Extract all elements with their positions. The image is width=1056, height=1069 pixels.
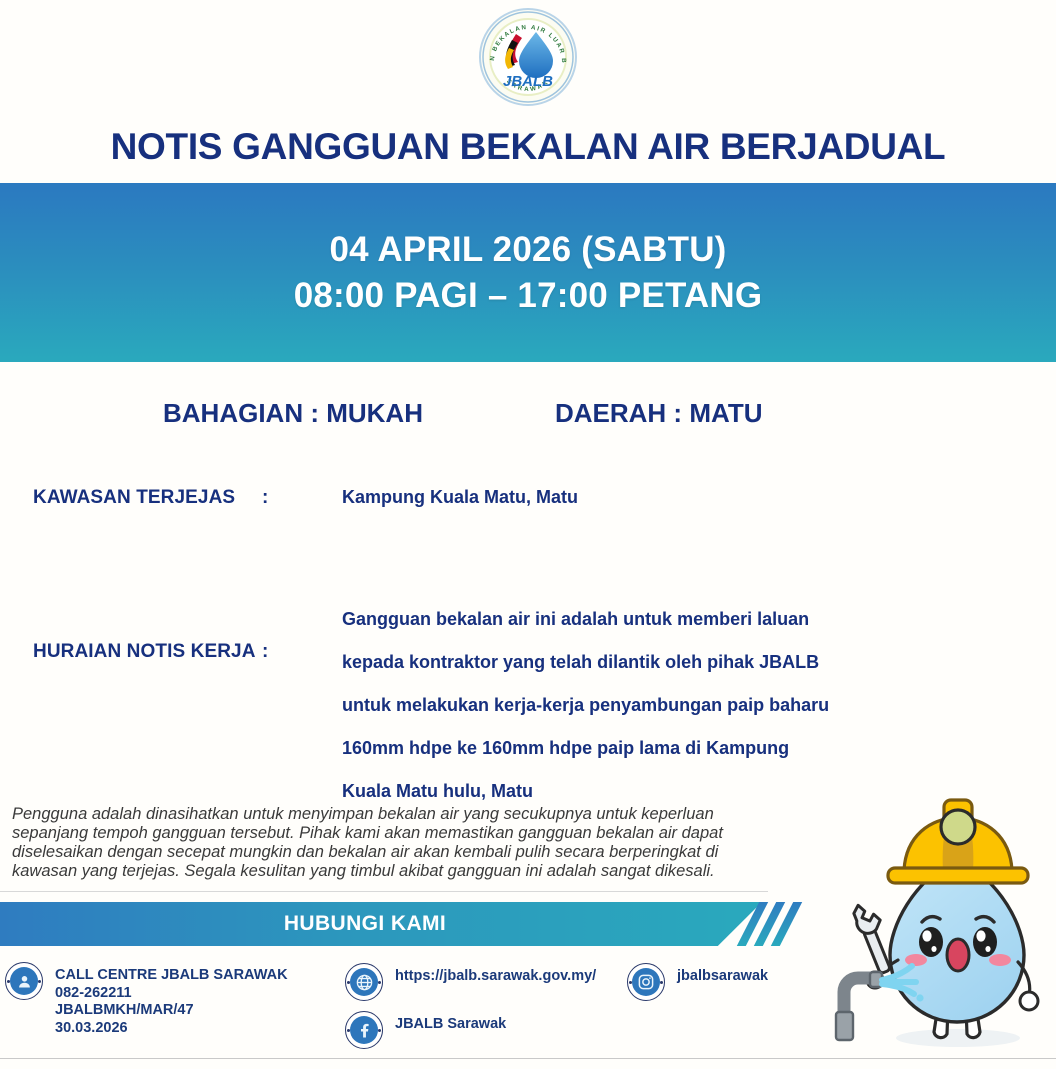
facebook-text: JBALB Sarawak [395,1011,506,1034]
notice-time: 08:00 PAGI – 17:00 PETANG [294,276,763,316]
notice-date: 04 APRIL 2026 (SABTU) [329,230,726,270]
svg-text:JBALB: JBALB [503,73,553,90]
work-description-colon: : [262,598,280,663]
banner-stripes [744,902,802,946]
contact-instagram[interactable]: jbalbsarawak [627,963,768,1001]
instagram-icon [627,963,665,1001]
affected-area-label: KAWASAN TERJEJAS [0,487,262,509]
logo-container: JABATAN BEKALAN AIR LUAR BANDAR SARAWAK … [0,8,1056,106]
daerah-label: DAERAH : MATU [555,398,763,429]
instagram-handle: jbalbsarawak [677,968,768,986]
instagram-text: jbalbsarawak [677,963,768,986]
person-icon [5,962,43,1000]
contact-banner-title: HUBUNGI KAMI [0,902,730,946]
work-description-row: HURAIAN NOTIS KERJA : Gangguan bekalan a… [0,598,1056,813]
globe-icon [345,963,383,1001]
call-centre-text: CALL CENTRE JBALB SARAWAK 082-262211 JBA… [55,962,288,1037]
call-centre-name: CALL CENTRE JBALB SARAWAK [55,967,288,985]
affected-area-row: KAWASAN TERJEJAS : Kampung Kuala Matu, M… [0,487,1056,509]
contact-call-centre: CALL CENTRE JBALB SARAWAK 082-262211 JBA… [5,962,288,1037]
website-url: https://jbalb.sarawak.gov.my/ [395,968,596,986]
affected-area-colon: : [262,487,280,509]
work-description-line: Gangguan bekalan air ini adalah untuk me… [342,598,829,641]
contact-facebook[interactable]: JBALB Sarawak [345,1011,506,1049]
call-centre-phone: 082-262211 [55,985,288,1003]
work-description-line: untuk melakukan kerja-kerja penyambungan… [342,684,829,727]
work-description-value: Gangguan bekalan air ini adalah untuk me… [280,598,829,813]
work-description-line: kepada kontraktor yang telah dilantik ol… [342,641,829,684]
work-description-label: HURAIAN NOTIS KERJA [0,598,262,663]
region-row: BAHAGIAN : MUKAH DAERAH : MATU [0,398,1056,429]
bahagian-label: BAHAGIAN : MUKAH [163,398,423,429]
contact-website[interactable]: https://jbalb.sarawak.gov.my/ [345,963,596,1001]
website-text: https://jbalb.sarawak.gov.my/ [395,963,596,986]
facebook-icon [345,1011,383,1049]
notice-page: JABATAN BEKALAN AIR LUAR BANDAR SARAWAK … [0,0,1056,1069]
page-title: NOTIS GANGGUAN BEKALAN AIR BERJADUAL [0,126,1056,168]
work-description-line: 160mm hdpe ke 160mm hdpe paip lama di Ka… [342,727,829,770]
affected-area-value: Kampung Kuala Matu, Matu [280,487,578,508]
jbalb-logo: JABATAN BEKALAN AIR LUAR BANDAR SARAWAK … [479,8,577,106]
reference-number: JBALBMKH/MAR/47 [55,1002,288,1020]
date-time-banner: 04 APRIL 2026 (SABTU) 08:00 PAGI – 17:00… [0,183,1056,362]
issue-date: 30.03.2026 [55,1020,288,1038]
water-droplet-mascot [826,792,1054,1062]
mascot-graphic [826,792,1054,1062]
facebook-handle: JBALB Sarawak [395,1016,506,1034]
jbalb-logo-graphic: JABATAN BEKALAN AIR LUAR BANDAR SARAWAK … [481,10,575,104]
advisory-text: Pengguna adalah dinasihatkan untuk menyi… [12,805,768,881]
contact-banner: HUBUNGI KAMI [0,902,800,946]
